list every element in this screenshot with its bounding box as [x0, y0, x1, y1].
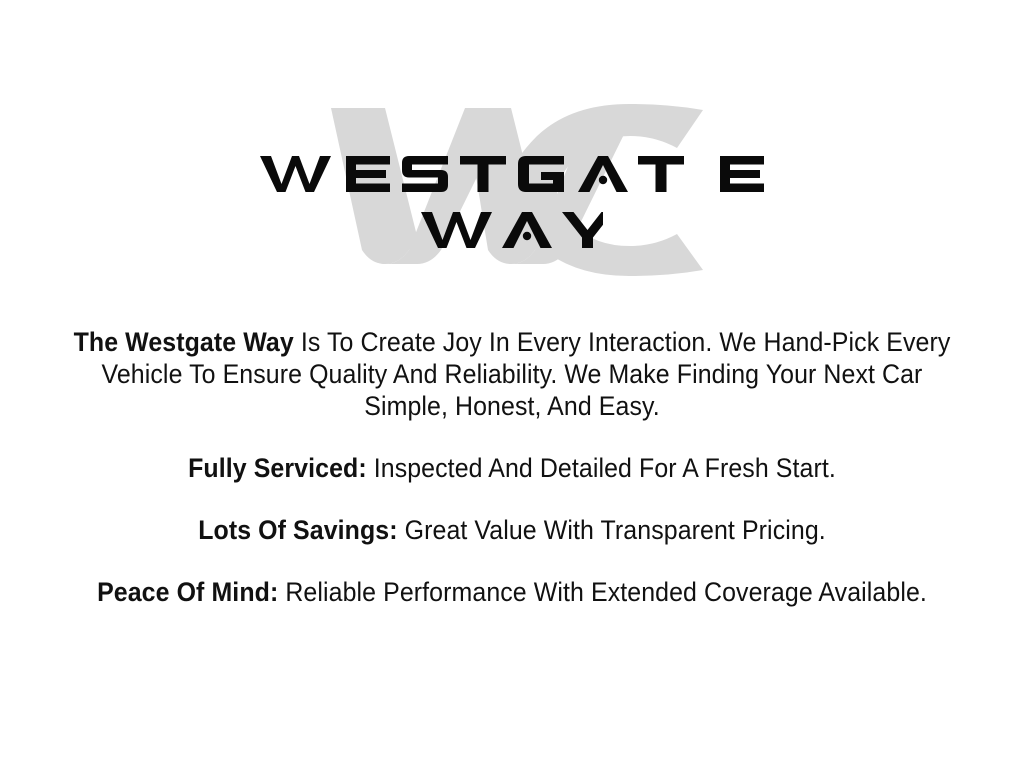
intro-paragraph: The Westgate Way Is To Create Joy In Eve…	[31, 326, 994, 422]
mission-statement-copy: The Westgate Way Is To Create Joy In Eve…	[0, 326, 1024, 608]
benefit-body-fully-serviced: Inspected And Detailed For A Fresh Start…	[367, 453, 836, 483]
benefit-item-fully-serviced: Fully Serviced: Inspected And Detailed F…	[31, 452, 994, 484]
logo-block	[0, 0, 1024, 300]
wordmark-westgate	[0, 146, 1024, 202]
intro-lead: The Westgate Way	[74, 327, 294, 357]
benefit-lead-lots-of-savings: Lots Of Savings:	[198, 515, 397, 545]
benefit-item-lots-of-savings: Lots Of Savings: Great Value With Transp…	[31, 514, 994, 546]
benefit-lead-peace-of-mind: Peace Of Mind:	[97, 577, 278, 607]
benefit-item-peace-of-mind: Peace Of Mind: Reliable Performance With…	[31, 576, 994, 608]
wordmark-way	[0, 202, 1024, 258]
benefit-lead-fully-serviced: Fully Serviced:	[188, 453, 367, 483]
benefit-body-peace-of-mind: Reliable Performance With Extended Cover…	[278, 577, 927, 607]
benefit-body-lots-of-savings: Great Value With Transparent Pricing.	[398, 515, 826, 545]
